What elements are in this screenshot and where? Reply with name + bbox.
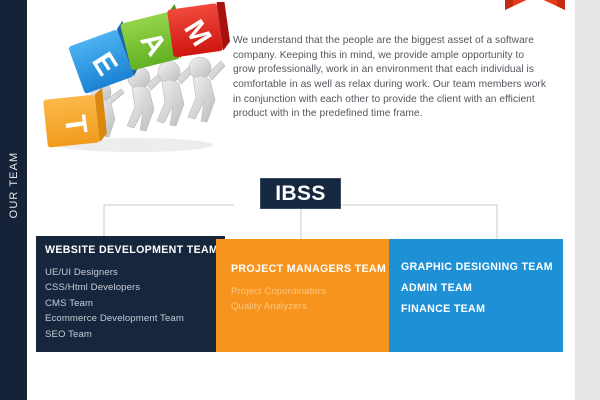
page-content: T E A M We understand that the peo xyxy=(27,0,575,400)
intro-paragraph: We understand that the people are the bi… xyxy=(233,34,548,122)
team-column-website-development[interactable]: WEBSITE DEVELOPMENT TEAM UE/UI Designers… xyxy=(36,236,225,352)
team-list-item: FINANCE TEAM xyxy=(401,299,563,320)
team-list-item: Quality Analyzers xyxy=(231,299,389,315)
team-list-item: Project Copordinators xyxy=(231,284,389,300)
team-list-item: CMS Team xyxy=(45,296,225,312)
team-list-item: ADMIN TEAM xyxy=(401,278,563,299)
our-team-sidebar: OUR TEAM xyxy=(0,0,27,400)
org-chart-root-label: IBSS xyxy=(275,183,326,204)
team-list-item: UE/UI Designers xyxy=(45,265,225,281)
red-ribbon-icon xyxy=(505,0,565,10)
our-team-page: OUR TEAM xyxy=(0,0,600,400)
team-list-item: SEO Team xyxy=(45,327,225,343)
team-column-heading: WEBSITE DEVELOPMENT TEAM xyxy=(45,245,225,256)
team-blocks-illustration: T E A M xyxy=(35,2,240,154)
team-list-item: Ecommerce Development Team xyxy=(45,311,225,327)
page-right-gutter xyxy=(575,0,600,400)
team-column-heading: GRAPHIC DESIGNING TEAM xyxy=(401,257,563,278)
team-list-item: CSS/Html Developers xyxy=(45,280,225,296)
team-column-graphic-designing[interactable]: GRAPHIC DESIGNING TEAM ADMIN TEAM FINANC… xyxy=(389,239,563,352)
sidebar-vertical-label: OUR TEAM xyxy=(8,152,20,219)
org-chart-root-ibss: IBSS xyxy=(260,178,341,209)
team-column-heading: PROJECT MANAGERS TEAM xyxy=(231,264,389,275)
team-column-project-managers[interactable]: PROJECT MANAGERS TEAM Project Copordinat… xyxy=(216,239,389,352)
